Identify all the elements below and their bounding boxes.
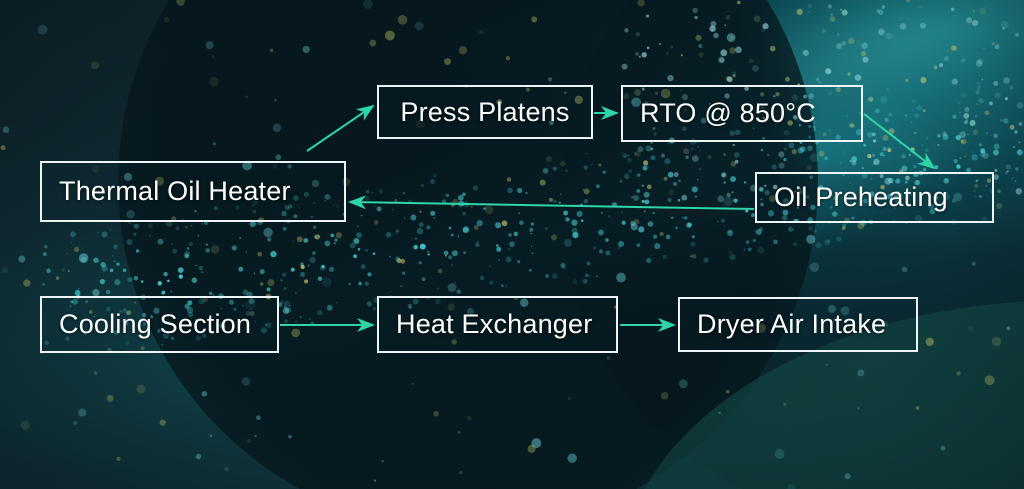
flow-edge-thermal-oil-heater-to-press-platens xyxy=(307,106,373,151)
flow-node-oil-preheating[interactable]: Oil Preheating xyxy=(755,172,994,223)
flow-node-label: Heat Exchanger xyxy=(396,309,592,340)
flow-edge-oil-preheating-to-thermal-oil-heater xyxy=(350,202,754,209)
flow-node-heat-exchanger[interactable]: Heat Exchanger xyxy=(377,296,618,353)
flow-node-thermal-oil-heater[interactable]: Thermal Oil Heater xyxy=(40,161,346,222)
flow-node-label: Oil Preheating xyxy=(774,182,948,213)
flow-node-label: Cooling Section xyxy=(59,309,251,340)
flow-node-label: Thermal Oil Heater xyxy=(59,176,291,207)
diagram-canvas: Press PlatensRTO @ 850°CThermal Oil Heat… xyxy=(0,0,1024,489)
flow-node-label: Dryer Air Intake xyxy=(697,309,886,340)
flow-node-rto[interactable]: RTO @ 850°C xyxy=(621,85,863,142)
flow-node-dryer-air-intake[interactable]: Dryer Air Intake xyxy=(678,297,918,352)
flow-node-label: Press Platens xyxy=(400,97,569,128)
flow-edge-rto-to-oil-preheating xyxy=(864,114,934,168)
flow-node-label: RTO @ 850°C xyxy=(640,98,816,129)
flow-node-cooling-section[interactable]: Cooling Section xyxy=(40,296,279,353)
flow-connectors xyxy=(0,0,1024,489)
flow-node-press-platens[interactable]: Press Platens xyxy=(377,85,593,139)
